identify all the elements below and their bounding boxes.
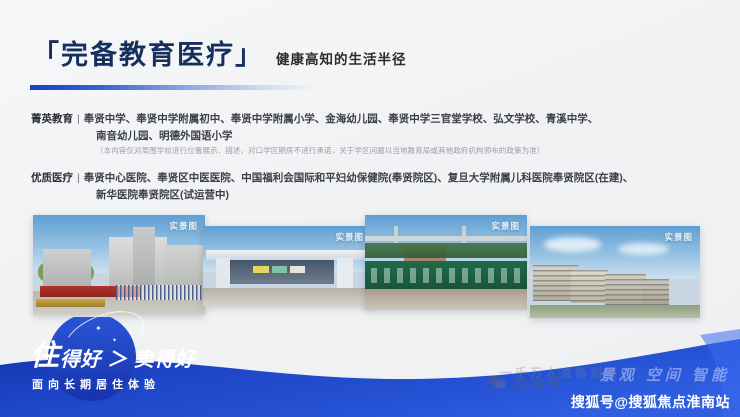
photo-tag-label: 实景图 bbox=[335, 231, 364, 243]
photo-ground bbox=[530, 305, 700, 318]
banner-slogan-rest: 得好 ＞ 卖得好 bbox=[60, 349, 195, 371]
medical-line-2: 新华医院奉贤院区(试运营中) bbox=[96, 187, 229, 204]
wechat-icon bbox=[488, 375, 507, 391]
medical-line-1: 优质医疗|奉贤中心医院、奉贤区中医医院、中国福利会国际和平妇幼保健院(奉贤院区)… bbox=[31, 170, 633, 187]
education-lead-label: 菁英教育 bbox=[31, 113, 73, 125]
slide-root: 「完备教育医疗」 健康高知的生活半径 菁英教育|奉贤中学、奉贤中学附属初中、奉贤… bbox=[0, 0, 740, 417]
photo-tag-label: 实景图 bbox=[664, 231, 693, 243]
photo-gate-panel-2 bbox=[272, 266, 287, 273]
wechat-icon-bubble-2 bbox=[495, 380, 506, 389]
photo-building-left bbox=[43, 249, 91, 289]
sparkle-icon: ✦ bbox=[128, 329, 134, 337]
photo-ground bbox=[365, 289, 527, 310]
title-underline-bar bbox=[30, 85, 315, 90]
title-main-text: 「完备教育医疗」 bbox=[32, 42, 264, 69]
photo-hedge bbox=[36, 299, 105, 307]
title-subtitle-text: 健康高知的生活半径 bbox=[276, 53, 407, 67]
photo-tag-label: 实景图 bbox=[169, 220, 198, 232]
education-disclaimer: （本内容仅对周围学校进行位置展示、描述，对口学区期房不进行承诺，关于学区问题以当… bbox=[96, 145, 544, 156]
education-line-1: 菁英教育|奉贤中学、奉贤中学附属初中、奉贤中学附属小学、金海幼儿园、奉贤中学三官… bbox=[31, 111, 598, 128]
banner-subtitle: 面向长期居住体验 bbox=[32, 376, 160, 392]
photo-windows bbox=[605, 274, 646, 305]
watermark-sohu: 搜狐号@搜狐焦点淮南站 bbox=[571, 392, 730, 412]
photo-school-campus: 实景图 bbox=[33, 215, 205, 315]
photo-bushes bbox=[365, 243, 527, 258]
photo-wall-lettering bbox=[371, 268, 520, 283]
photo-windows bbox=[571, 270, 608, 303]
photo-hospital-block-b bbox=[571, 270, 608, 303]
photo-overpass-deck bbox=[365, 236, 527, 241]
photo-hospital-block-d bbox=[642, 279, 669, 305]
watermark-gzh-label: 公众号 bbox=[513, 372, 564, 393]
photo-cloud-2 bbox=[618, 243, 669, 255]
education-line-1-text: 奉贤中学、奉贤中学附属初中、奉贤中学附属小学、金海幼儿园、奉贤中学三官堂学校、弘… bbox=[84, 113, 599, 125]
photo-hospital-block-c bbox=[605, 274, 646, 305]
watermark-wechat-official-account: 公众号 bbox=[488, 372, 564, 393]
photo-hospital-complex: 实景图 bbox=[530, 226, 700, 318]
photo-road bbox=[203, 288, 371, 306]
photo-gate-column-left bbox=[216, 258, 229, 292]
education-line-2: 南音幼儿园、明德外国语小学 bbox=[96, 128, 233, 145]
photo-gate-panel-1 bbox=[253, 266, 268, 273]
photo-gate-column-right bbox=[337, 258, 352, 292]
banner-slogan-first-char: 住 bbox=[30, 343, 59, 371]
banner-slogan: 住 得好 ＞ 卖得好 bbox=[30, 343, 195, 371]
medical-line-1-text: 奉贤中心医院、奉贤区中医医院、中国福利会国际和平妇幼保健院(奉贤院区)、复旦大学… bbox=[84, 172, 633, 184]
education-separator: | bbox=[73, 111, 84, 128]
medical-lead-label: 优质医疗 bbox=[31, 172, 73, 184]
photo-gate-panel-3 bbox=[290, 266, 305, 273]
sparkle-icon: ✦ bbox=[95, 324, 102, 333]
photo-tag-label: 实景图 bbox=[491, 220, 520, 232]
medical-separator: | bbox=[73, 170, 84, 187]
photo-cloud-1 bbox=[544, 237, 602, 252]
photo-campus-wall: 实景图 bbox=[365, 215, 527, 310]
photo-building-tower bbox=[133, 227, 155, 292]
photo-fence bbox=[116, 285, 202, 300]
photo-windows bbox=[642, 279, 669, 305]
photo-school-gate: 实景图 bbox=[203, 226, 371, 306]
page-title: 「完备教育医疗」 健康高知的生活半径 bbox=[32, 42, 407, 69]
